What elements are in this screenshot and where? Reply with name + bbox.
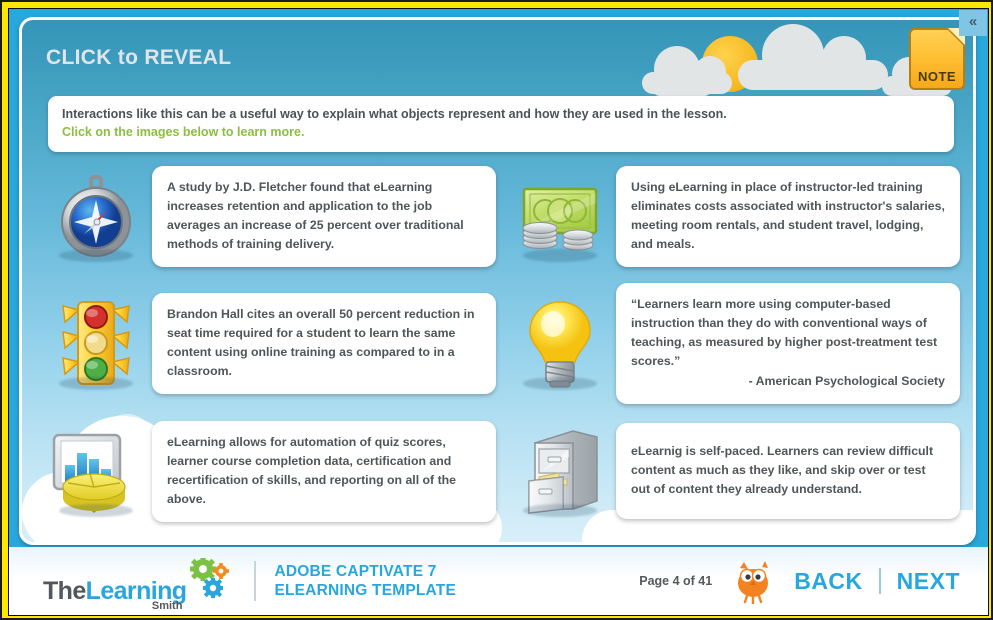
icon-shadow bbox=[59, 377, 133, 390]
note-tab-label: NOTE bbox=[909, 69, 965, 84]
compass-icon[interactable] bbox=[40, 160, 152, 272]
template-title: ADOBE CAPTIVATE 7 ELEARNING TEMPLATE bbox=[274, 562, 456, 600]
reveal-text-card[interactable]: eLearnig is self-paced. Learners can rev… bbox=[616, 423, 960, 519]
reveal-text: A study by J.D. Fletcher found that eLea… bbox=[167, 178, 481, 254]
reveal-row: eLearning allows for automation of quiz … bbox=[40, 415, 960, 527]
reveal-grid: A study by J.D. Fletcher found that eLea… bbox=[40, 160, 960, 538]
brand-logo-part1: The bbox=[43, 577, 86, 605]
lightbulb-icon[interactable] bbox=[504, 288, 616, 400]
brand-logo-subtitle: Smith bbox=[152, 601, 183, 612]
lesson-viewport: « CLICK to REVEAL NOTE Interactions like… bbox=[8, 8, 989, 616]
reveal-item: A study by J.D. Fletcher found that eLea… bbox=[40, 160, 496, 272]
reveal-text-card[interactable]: Brandon Hall cites an overall 50 percent… bbox=[152, 293, 496, 394]
intro-line-1: Interactions like this can be a useful w… bbox=[62, 106, 940, 123]
cloud-decoration bbox=[652, 80, 712, 96]
cloud-decoration bbox=[642, 72, 732, 94]
traffic-light-icon[interactable] bbox=[40, 288, 152, 400]
page-title: CLICK to REVEAL bbox=[46, 46, 231, 70]
reveal-text: “Learners learn more using computer-base… bbox=[631, 295, 945, 371]
reveal-item: eLearning allows for automation of quiz … bbox=[40, 415, 496, 527]
icon-shadow bbox=[59, 504, 133, 517]
owl-mascot-icon bbox=[730, 558, 776, 604]
next-button[interactable]: NEXT bbox=[893, 568, 964, 595]
reveal-text: Using eLearning in place of instructor-l… bbox=[631, 178, 945, 254]
note-tab-button[interactable]: NOTE bbox=[909, 28, 965, 90]
icon-shadow bbox=[523, 249, 597, 262]
reveal-text: eLearnig is self-paced. Learners can rev… bbox=[631, 442, 945, 499]
reveal-item: Using eLearning in place of instructor-l… bbox=[504, 160, 960, 272]
back-button[interactable]: BACK bbox=[790, 568, 866, 595]
reveal-item: eLearnig is self-paced. Learners can rev… bbox=[504, 415, 960, 527]
template-title-line1: ADOBE CAPTIVATE 7 bbox=[274, 562, 456, 581]
page-frame: « CLICK to REVEAL NOTE Interactions like… bbox=[0, 0, 993, 620]
owl-mascot-icon-graphic bbox=[730, 558, 776, 604]
icon-shadow bbox=[59, 249, 133, 262]
footer-navigation: Page 4 of 41 BACK bbox=[639, 558, 964, 604]
intro-callout: Interactions like this can be a useful w… bbox=[48, 96, 954, 152]
cloud-decoration bbox=[738, 60, 888, 90]
reveal-text-card[interactable]: eLearning allows for automation of quiz … bbox=[152, 421, 496, 522]
reveal-text: eLearning allows for automation of quiz … bbox=[167, 433, 481, 509]
reveal-text-card[interactable]: A study by J.D. Fletcher found that eLea… bbox=[152, 166, 496, 267]
reveal-item: “Learners learn more using computer-base… bbox=[504, 283, 960, 404]
reveal-row: A study by J.D. Fletcher found that eLea… bbox=[40, 160, 960, 272]
reveal-attribution: - American Psychological Society bbox=[631, 372, 945, 391]
reveal-text-card[interactable]: Using eLearning in place of instructor-l… bbox=[616, 166, 960, 267]
brand-logo[interactable]: TheLearning Smith bbox=[43, 558, 232, 604]
collapse-panel-icon[interactable]: « bbox=[959, 10, 987, 36]
template-title-line2: ELEARNING TEMPLATE bbox=[274, 581, 456, 600]
money-cash-icon[interactable] bbox=[504, 160, 616, 272]
intro-line-2: Click on the images below to learn more. bbox=[62, 123, 940, 141]
reveal-text: Brandon Hall cites an overall 50 percent… bbox=[167, 305, 481, 381]
slide-footer: TheLearning Smith bbox=[9, 547, 989, 615]
icon-shadow bbox=[523, 504, 597, 517]
slide-panel: CLICK to REVEAL NOTE Interactions like t… bbox=[19, 17, 976, 545]
reveal-row: Brandon Hall cites an overall 50 percent… bbox=[40, 283, 960, 404]
brand-logo-text: TheLearning Smith bbox=[43, 579, 186, 604]
money-cash-icon-graphic bbox=[512, 173, 608, 259]
icon-shadow bbox=[523, 377, 597, 390]
sun-icon bbox=[702, 36, 758, 92]
gears-icon bbox=[188, 558, 232, 600]
filing-cabinet-icon[interactable] bbox=[504, 415, 616, 527]
gears-icon-graphic bbox=[188, 558, 232, 600]
page-indicator: Page 4 of 41 bbox=[639, 574, 712, 588]
reveal-text-card[interactable]: “Learners learn more using computer-base… bbox=[616, 283, 960, 404]
nav-separator bbox=[879, 568, 881, 594]
reveal-item: Brandon Hall cites an overall 50 percent… bbox=[40, 283, 496, 404]
footer-divider bbox=[254, 561, 256, 601]
bar-chart-pie-icon[interactable] bbox=[40, 415, 152, 527]
